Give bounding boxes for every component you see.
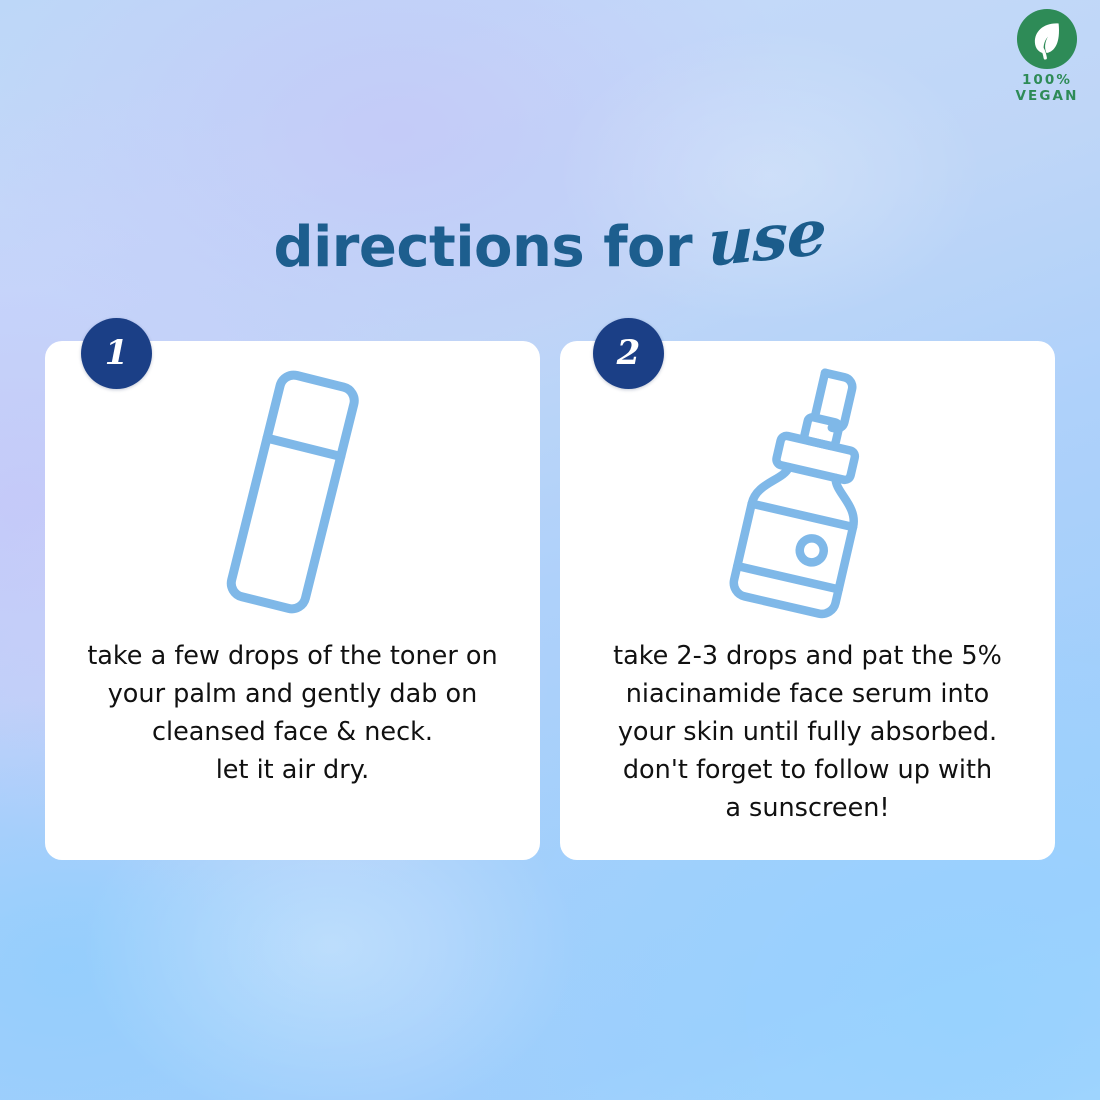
poster-canvas: 100% VEGAN directions foruse take a few … xyxy=(0,0,1100,1100)
vegan-percent-label: 100% xyxy=(1008,73,1086,89)
toner-bottle-icon xyxy=(173,356,413,626)
step-2-instruction-text: take 2-3 drops and pat the 5% niacinamid… xyxy=(578,637,1037,827)
serum-dropper-bottle-icon xyxy=(688,356,928,626)
leaf-icon xyxy=(1016,8,1078,70)
step-badge-1: 1 xyxy=(81,318,152,389)
vegan-badge: 100% VEGAN xyxy=(1008,8,1086,105)
step-badge-2: 2 xyxy=(593,318,664,389)
step-1-instruction-text: take a few drops of the toner on your pa… xyxy=(63,637,522,789)
vegan-word-label: VEGAN xyxy=(1008,89,1086,105)
step-card-1: take a few drops of the toner on your pa… xyxy=(45,341,540,860)
page-title-main: directions for xyxy=(273,215,692,280)
page-title-script: use xyxy=(708,194,826,281)
page-title: directions foruse xyxy=(0,207,1100,281)
step-card-2: take 2-3 drops and pat the 5% niacinamid… xyxy=(560,341,1055,860)
